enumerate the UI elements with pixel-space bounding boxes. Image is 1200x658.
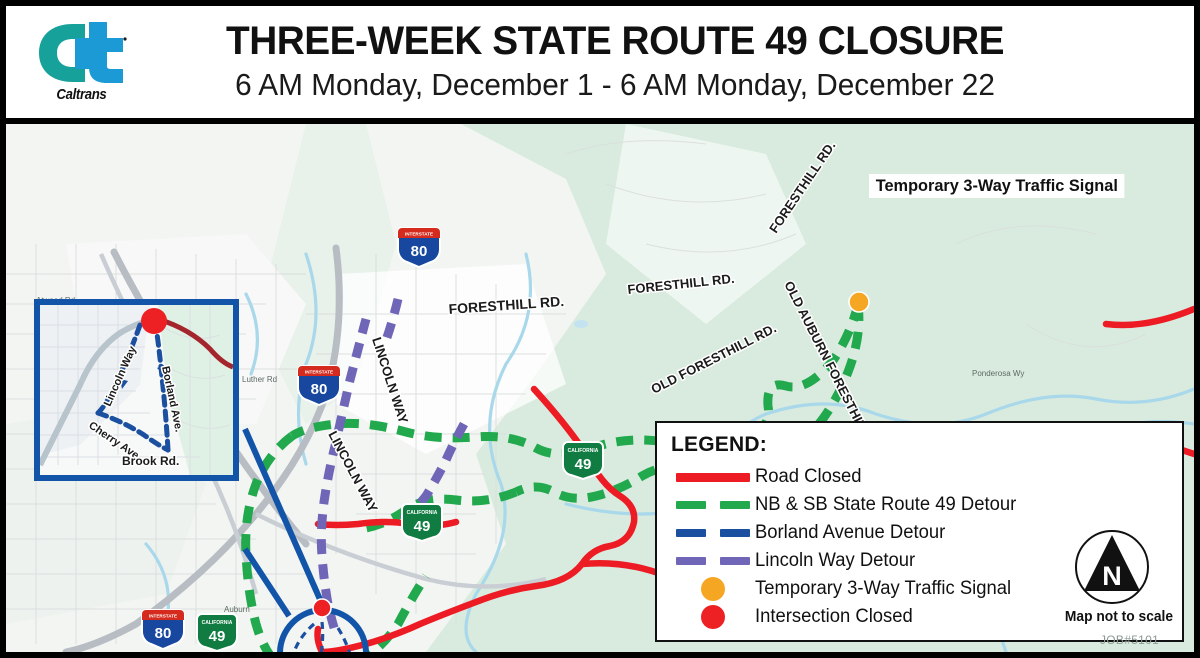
svg-text:49: 49 <box>209 628 226 645</box>
compass-north-letter: N <box>1102 561 1122 591</box>
line-solid-red-icon <box>671 473 755 482</box>
north-arrow-icon: N <box>1074 529 1150 605</box>
legend-title: LEGEND: <box>671 433 1182 457</box>
svg-text:49: 49 <box>414 518 431 535</box>
shield-sr49-south: CALIFORNIA 49 <box>402 504 442 541</box>
temporary-signal-callout: Temporary 3-Way Traffic Signal <box>869 174 1125 198</box>
inset-detail-map[interactable]: Lincoln Way Borland Ave. Cherry Ave. Bro… <box>34 299 239 481</box>
intersection-closed-marker[interactable] <box>313 599 331 617</box>
legend-label-intersection-closed: Intersection Closed <box>755 606 913 628</box>
temporary-signal-marker[interactable] <box>849 292 869 312</box>
shield-sr49-east: CALIFORNIA 49 <box>563 442 603 479</box>
line-dashed-blue-icon <box>671 529 755 537</box>
inset-intersection-closed-dot <box>141 308 167 334</box>
legend-item-road-closed: Road Closed <box>671 463 1182 491</box>
road-label-luther-rd-2: Luther Rd <box>242 375 277 384</box>
svg-text:80: 80 <box>311 381 328 398</box>
page-subtitle: 6 AM Monday, December 1 - 6 AM Monday, D… <box>174 66 1055 103</box>
svg-text:49: 49 <box>575 456 592 473</box>
legend-label-sr49-detour: NB & SB State Route 49 Detour <box>755 494 1016 516</box>
place-label-auburn: Auburn <box>224 605 250 614</box>
svg-text:80: 80 <box>155 625 172 642</box>
caltrans-ct-logo-icon <box>35 22 127 84</box>
svg-text:80: 80 <box>411 243 428 260</box>
page-title: THREE-WEEK STATE ROUTE 49 CLOSURE <box>170 20 1060 62</box>
svg-text:CALIFORNIA: CALIFORNIA <box>202 620 233 626</box>
shield-sr49-auburn: CALIFORNIA 49 <box>197 614 237 651</box>
shield-i80-auburn: INTERSTATE 80 <box>142 610 184 649</box>
inset-label-brook-rd: Brook Rd. <box>122 454 179 468</box>
legend-label-borland-detour: Borland Avenue Detour <box>755 522 945 544</box>
legend-label-lincoln-detour: Lincoln Way Detour <box>755 550 915 572</box>
svg-text:CALIFORNIA: CALIFORNIA <box>407 510 438 516</box>
legend-label-road-closed: Road Closed <box>755 466 862 488</box>
job-number: JOB#5101 <box>1100 633 1159 647</box>
svg-text:CALIFORNIA: CALIFORNIA <box>568 448 599 454</box>
road-label-creek: Ponderosa Wy <box>972 369 1024 378</box>
header-titles: THREE-WEEK STATE ROUTE 49 CLOSURE 6 AM M… <box>156 20 1194 103</box>
dot-orange-icon <box>671 577 755 601</box>
caltrans-wordmark: Caltrans <box>56 86 106 103</box>
svg-text:INTERSTATE: INTERSTATE <box>149 614 177 619</box>
inset-canvas: Lincoln Way Borland Ave. Cherry Ave. Bro… <box>40 305 233 475</box>
legend-label-temporary-signal: Temporary 3-Way Traffic Signal <box>755 578 1011 600</box>
header-banner: Caltrans THREE-WEEK STATE ROUTE 49 CLOSU… <box>6 6 1194 118</box>
legend-item-sr49-detour: NB & SB State Route 49 Detour <box>671 491 1182 519</box>
line-dashed-purple-icon <box>671 557 755 565</box>
svg-text:INTERSTATE: INTERSTATE <box>305 370 333 375</box>
flyer-root: Caltrans THREE-WEEK STATE ROUTE 49 CLOSU… <box>0 0 1200 658</box>
line-dashed-green-icon <box>671 501 755 509</box>
shield-i80-north: INTERSTATE 80 <box>398 228 440 267</box>
dot-red-icon <box>671 605 755 629</box>
shield-i80-central: INTERSTATE 80 <box>298 366 340 405</box>
scale-note: Map not to scale <box>1061 608 1177 625</box>
svg-text:INTERSTATE: INTERSTATE <box>405 232 433 237</box>
caltrans-logo: Caltrans <box>6 6 156 118</box>
